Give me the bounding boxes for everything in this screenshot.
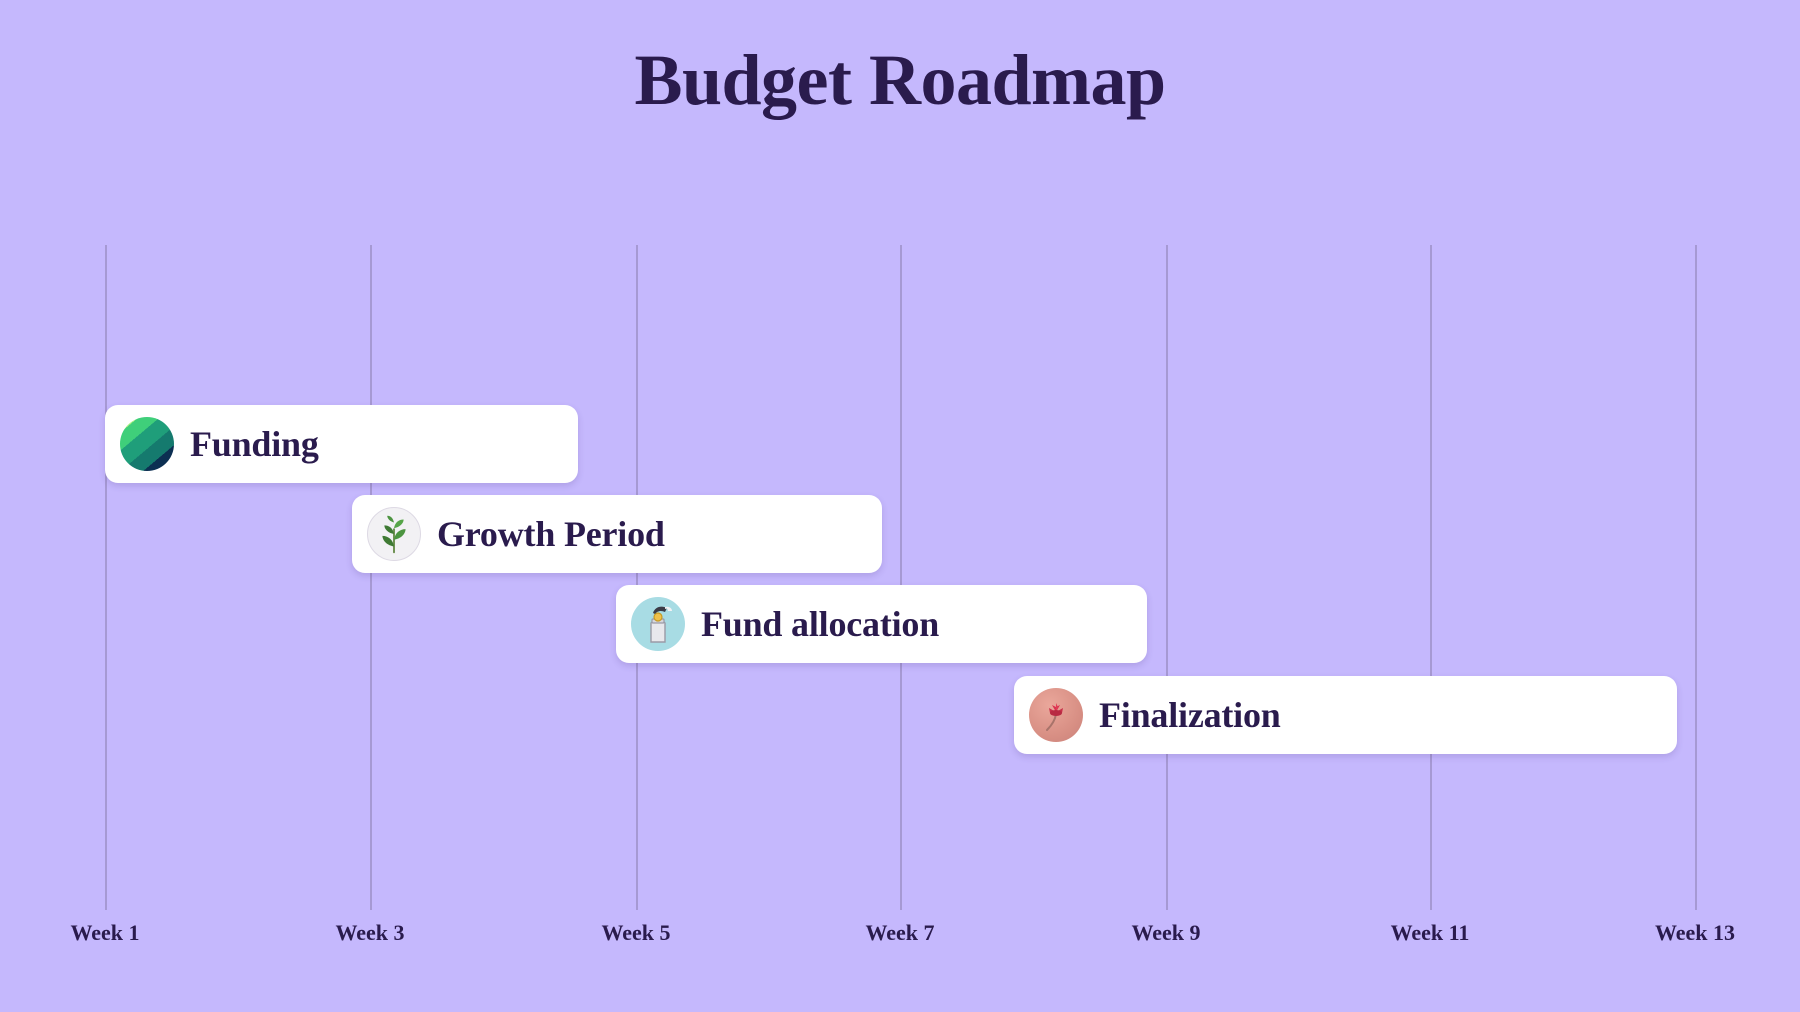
- gridline-week-5: [636, 245, 638, 910]
- gridline-week-11: [1430, 245, 1432, 910]
- flower-icon: [1029, 688, 1083, 742]
- axis-tick-label-week-5: Week 5: [601, 920, 670, 946]
- axis-tick-label-week-9: Week 9: [1131, 920, 1200, 946]
- task-label: Fund allocation: [701, 603, 939, 645]
- axis-tick-label-week-7: Week 7: [865, 920, 934, 946]
- task-label: Funding: [190, 423, 319, 465]
- task-label: Growth Period: [437, 513, 665, 555]
- seedling-icon-glyph: [368, 508, 420, 560]
- axis-tick-label-week-1: Week 1: [70, 920, 139, 946]
- coin-jar-icon-glyph: [631, 597, 685, 651]
- task-bar-finalization[interactable]: Finalization: [1014, 676, 1677, 754]
- coin-jar-icon: [631, 597, 685, 651]
- task-bar-growth-period[interactable]: Growth Period: [352, 495, 882, 573]
- gridline-week-9: [1166, 245, 1168, 910]
- gantt-chart: Funding Growth Period Fun: [0, 0, 1800, 1012]
- funding-gradient-icon: [120, 417, 174, 471]
- seedling-icon: [367, 507, 421, 561]
- task-bar-fund-allocation[interactable]: Fund allocation: [616, 585, 1147, 663]
- task-label: Finalization: [1099, 694, 1281, 736]
- gridline-week-7: [900, 245, 902, 910]
- axis-tick-label-week-13: Week 13: [1655, 920, 1735, 946]
- gridline-week-1: [105, 245, 107, 910]
- axis-tick-label-week-11: Week 11: [1391, 920, 1470, 946]
- flower-icon-glyph: [1029, 688, 1083, 742]
- axis-tick-label-week-3: Week 3: [335, 920, 404, 946]
- gridline-week-13: [1695, 245, 1697, 910]
- task-bar-funding[interactable]: Funding: [105, 405, 578, 483]
- gridline-week-3: [370, 245, 372, 910]
